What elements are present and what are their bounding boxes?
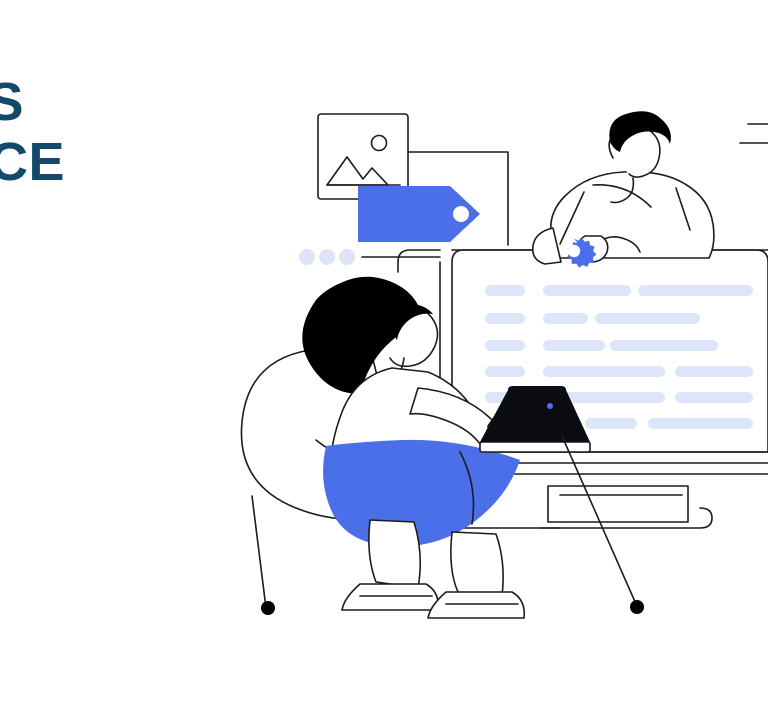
page-subtitle: AIGNS [0,355,345,415]
blue-tag-shape [358,186,480,242]
poster-canvas: .ln { fill:none; stroke:#1c1c1c; stroke-… [0,0,768,726]
person-top-right [533,111,714,264]
three-dots-indicator [299,249,440,265]
headline-line-2: RMANCE [0,132,345,192]
decor-lines-top-right [740,124,768,143]
page-title: LE ADS RMANCE [0,72,345,193]
headline-line-1: LE ADS [0,72,345,132]
subhead-line-1: AIGNS [0,355,345,415]
